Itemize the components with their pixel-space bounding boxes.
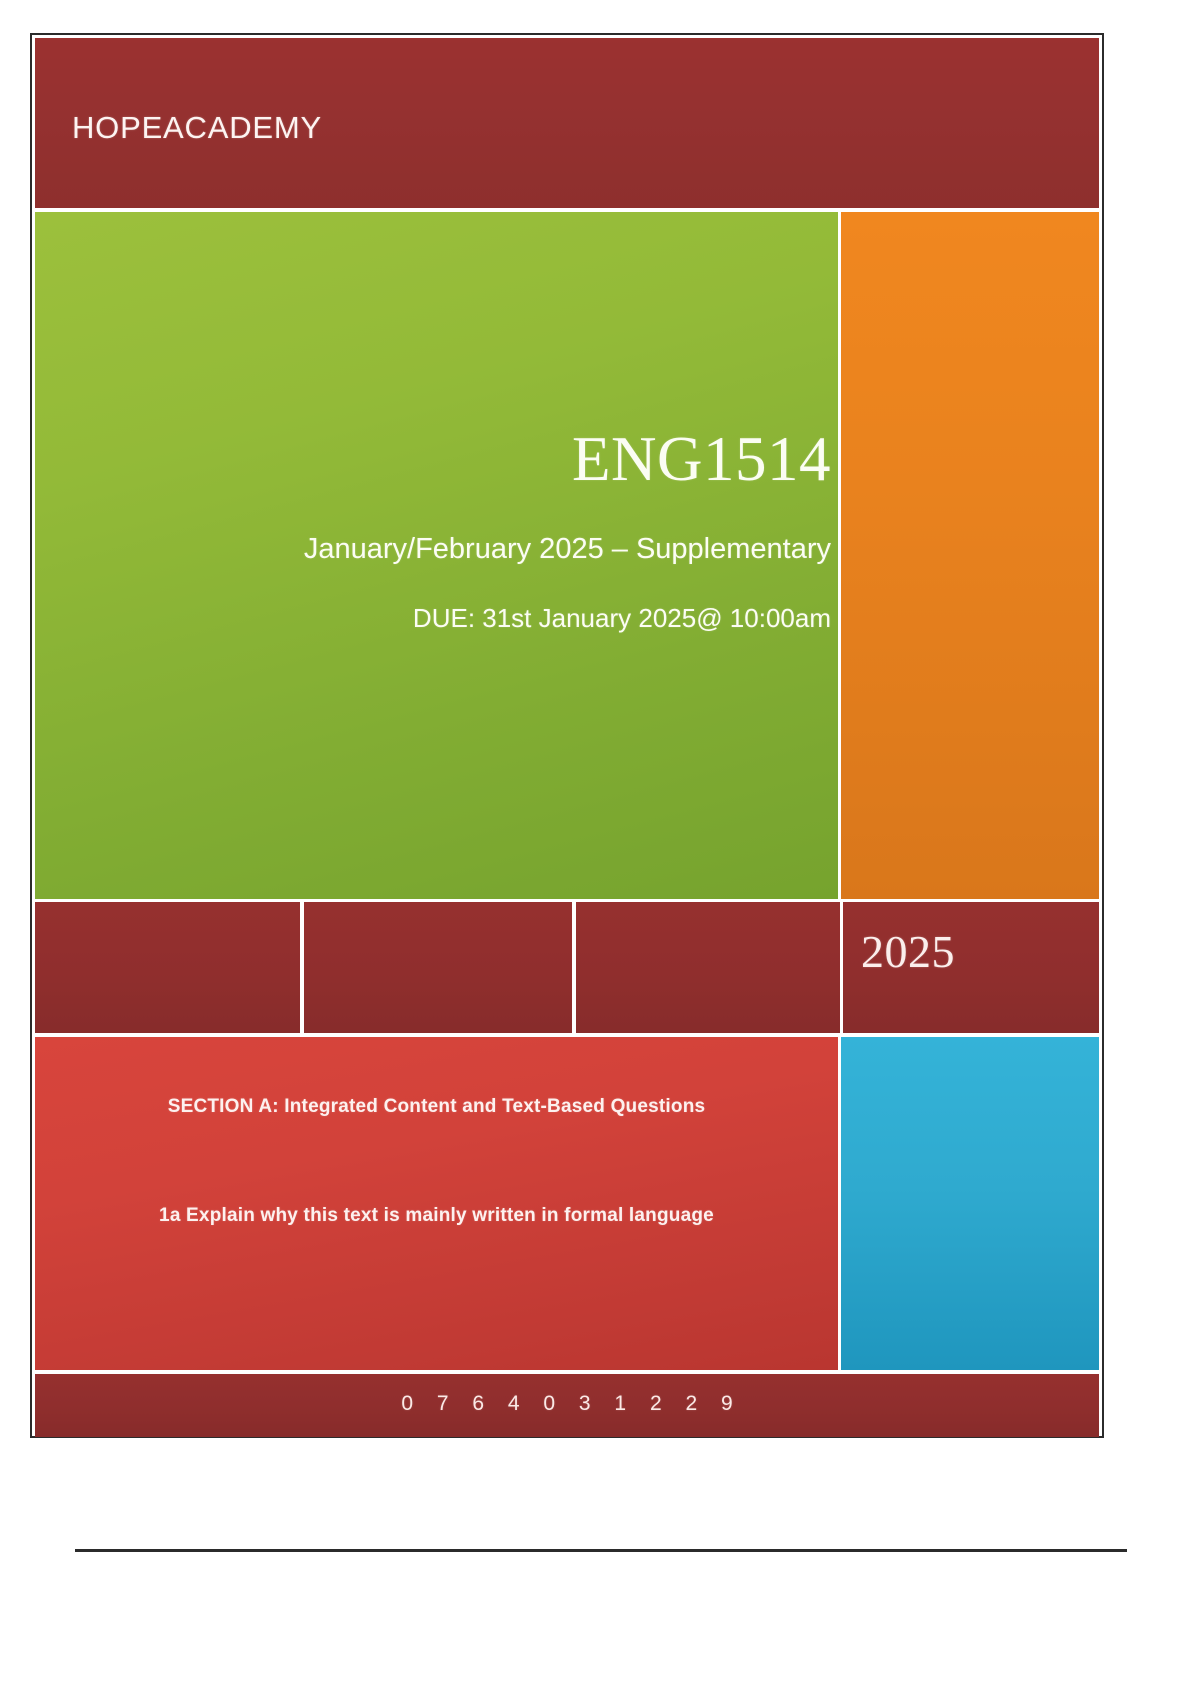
divider-cell-2	[304, 902, 572, 1033]
cover-artwork: HOPEACADEMY ENG1514 January/February 202…	[35, 38, 1099, 1433]
next-page-top-rule	[75, 1549, 1127, 1552]
section-heading: SECTION A: Integrated Content and Text-B…	[35, 1096, 838, 1118]
academy-name: HOPEACADEMY	[72, 110, 322, 146]
divider-row: 2025	[35, 902, 1099, 1033]
orange-accent-panel	[841, 212, 1099, 899]
green-content-panel: ENG1514 January/February 2025 – Suppleme…	[35, 212, 838, 899]
year-label: 2025	[861, 929, 955, 975]
main-band: ENG1514 January/February 2025 – Suppleme…	[35, 212, 1099, 899]
student-number: 0 7 6 4 0 3 1 2 2 9	[35, 1392, 1099, 1416]
divider-cell-3	[576, 902, 840, 1033]
exam-period: January/February 2025 – Supplementary	[304, 535, 831, 564]
title-bar: HOPEACADEMY	[35, 38, 1099, 208]
question-1a: 1a Explain why this text is mainly writt…	[35, 1205, 838, 1227]
due-date: DUE: 31st January 2025@ 10:00am	[413, 605, 831, 631]
divider-cell-year: 2025	[843, 902, 1099, 1033]
document-page: HOPEACADEMY ENG1514 January/February 202…	[0, 0, 1200, 1700]
question-band: SECTION A: Integrated Content and Text-B…	[35, 1037, 1099, 1370]
cover-page-frame: HOPEACADEMY ENG1514 January/February 202…	[30, 33, 1104, 1438]
cyan-accent-panel	[841, 1037, 1099, 1370]
red-question-panel: SECTION A: Integrated Content and Text-B…	[35, 1037, 838, 1370]
course-code: ENG1514	[572, 428, 831, 491]
divider-cell-1	[35, 902, 300, 1033]
footer-bar: 0 7 6 4 0 3 1 2 2 9	[35, 1374, 1099, 1437]
